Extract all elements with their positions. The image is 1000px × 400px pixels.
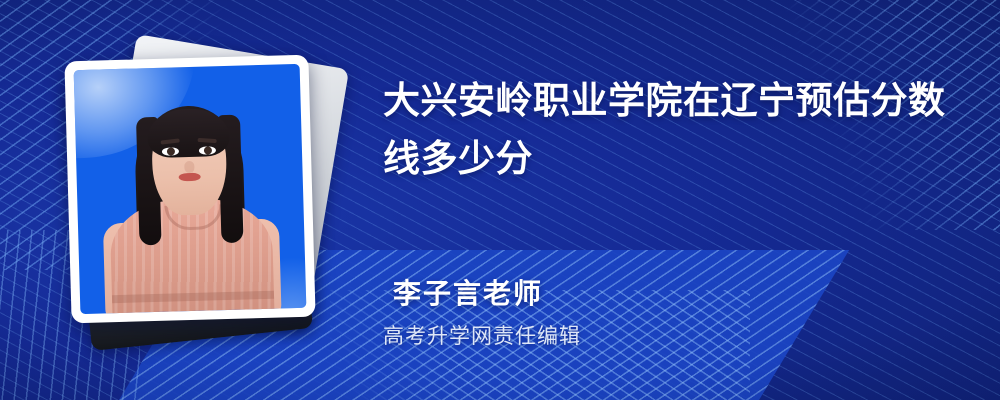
text-column: 大兴安岭职业学院在辽宁预估分数线多少分 李子言老师 高考升学网责任编辑 (383, 0, 983, 400)
author-role: 高考升学网责任编辑 (383, 320, 581, 350)
banner-card: 大兴安岭职业学院在辽宁预估分数线多少分 李子言老师 高考升学网责任编辑 (0, 0, 1000, 400)
avatar (74, 64, 307, 314)
portrait-figure (74, 64, 307, 314)
page-title: 大兴安岭职业学院在辽宁预估分数线多少分 (383, 72, 968, 188)
photo-card-stack (52, 42, 352, 352)
photo-card-front (64, 55, 315, 324)
eye-left (162, 147, 179, 155)
author-name: 李子言老师 (393, 272, 543, 312)
eye-right (199, 146, 216, 154)
nose-shape (184, 161, 194, 173)
